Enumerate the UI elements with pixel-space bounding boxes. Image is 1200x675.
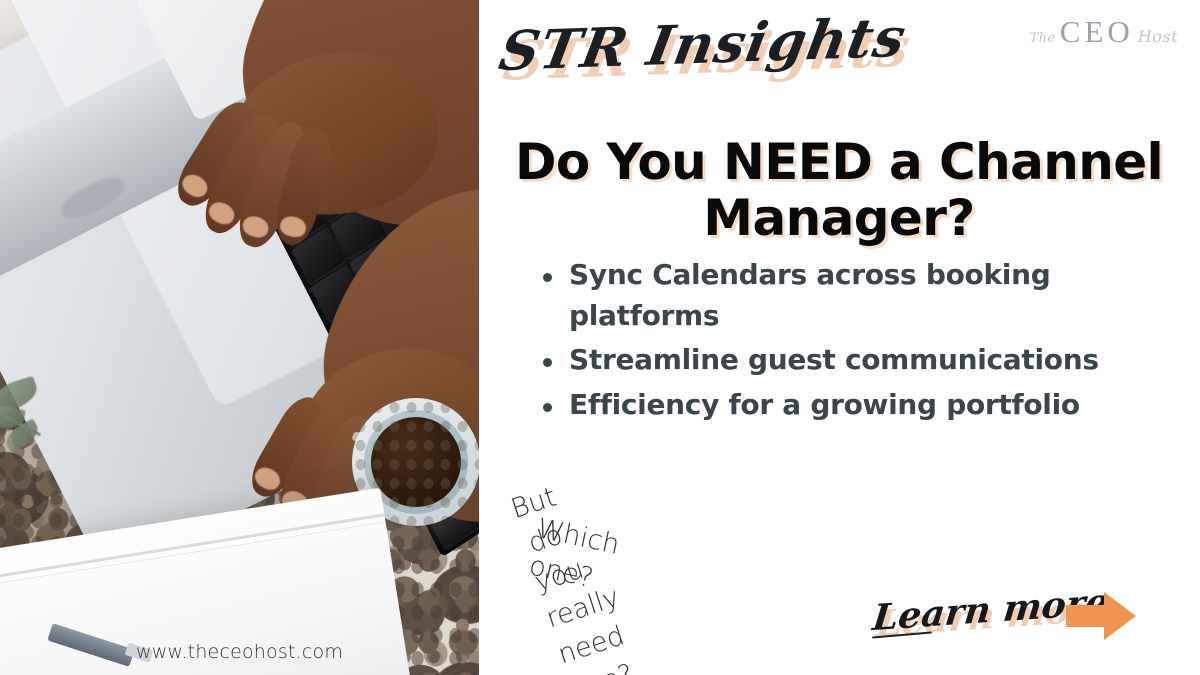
brand-logo-host: Host <box>1138 27 1178 46</box>
plant-sprig <box>0 372 72 482</box>
list-item: Streamline guest communications <box>535 340 1195 381</box>
list-item: Efficiency for a growing portfolio <box>535 385 1195 426</box>
content-panel: The CEO Host STR Insights STR Insights D… <box>479 0 1200 675</box>
learn-more-cta[interactable]: Learn more Learn more <box>874 580 1174 660</box>
brand-logo: The CEO Host <box>1030 14 1178 50</box>
brand-logo-ceo: CEO <box>1060 14 1134 50</box>
subtext-block: But do you really need one? Which one? <box>509 485 1169 533</box>
website-url: www.theceohost.com <box>0 641 479 663</box>
hero-photo: www.theceohost.com <box>0 0 479 675</box>
learn-more-script-wrap: Learn more Learn more <box>874 584 1064 650</box>
benefits-list: Sync Calendars across booking platforms … <box>535 255 1195 429</box>
page-title: Do You NEED a Channel Manager? <box>499 134 1179 246</box>
eyebrow-script-ink: STR Insights <box>495 10 910 78</box>
brand-logo-the: The <box>1030 31 1056 46</box>
list-item: Sync Calendars across booking platforms <box>535 255 1195 336</box>
arrow-right-icon[interactable] <box>1064 588 1138 644</box>
promo-graphic-canvas: www.theceohost.com The CEO Host STR Insi… <box>0 0 1200 675</box>
